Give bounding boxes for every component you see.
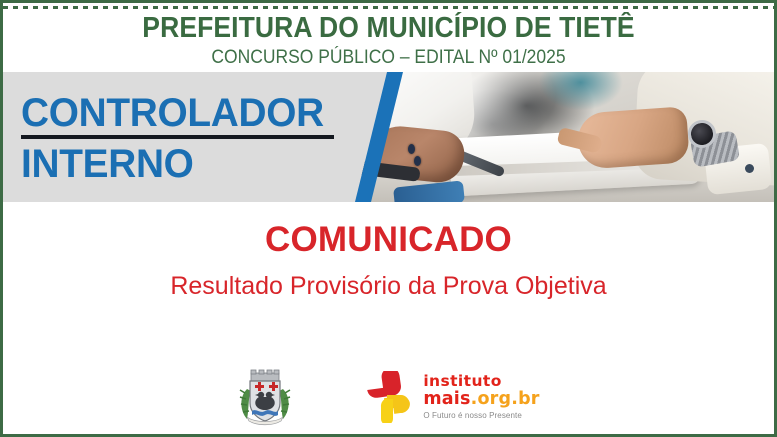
page-title: PREFEITURA DO MUNICÍPIO DE TIETÊ — [30, 12, 747, 45]
page-subtitle: CONCURSO PÚBLICO – EDITAL Nº 01/2025 — [34, 47, 743, 69]
coat-of-arms-icon — [237, 367, 293, 427]
instituto-tagline: O Futuro é nosso Presente — [423, 412, 539, 420]
mais-word: mais — [423, 389, 470, 409]
notice-title: COMUNICADO — [3, 220, 774, 260]
photo-cuff-button — [745, 164, 754, 173]
page-header: PREFEITURA DO MUNICÍPIO DE TIETÊ CONCURS… — [3, 3, 774, 72]
page-footer: instituto mais.org.br O Futuro é nosso P… — [3, 363, 774, 431]
role-title-line2: INTERNO — [21, 142, 194, 187]
role-title-underline — [21, 135, 334, 139]
notice-block: COMUNICADO Resultado Provisório da Prova… — [3, 202, 774, 301]
banner-photo — [354, 72, 774, 202]
mais-domain-line: mais.org.br — [423, 391, 539, 409]
orgbr-suffix: .org.br — [471, 389, 540, 409]
instituto-line: instituto — [423, 374, 539, 390]
header-dashed-rule — [3, 6, 774, 9]
instituto-mais-mark-icon — [363, 371, 415, 423]
photo-ring-upper — [408, 144, 415, 154]
role-banner: CONTROLADOR INTERNO — [3, 72, 774, 202]
notice-subtitle: Resultado Provisório da Prova Objetiva — [3, 272, 774, 301]
instituto-mais-wordmark: instituto mais.org.br O Futuro é nosso P… — [423, 374, 539, 420]
notice-page: PREFEITURA DO MUNICÍPIO DE TIETÊ CONCURS… — [0, 0, 777, 437]
role-title-line1: CONTROLADOR — [21, 91, 324, 136]
photo-ring-lower — [414, 156, 421, 166]
instituto-mais-logo: instituto mais.org.br O Futuro é nosso P… — [363, 371, 539, 423]
